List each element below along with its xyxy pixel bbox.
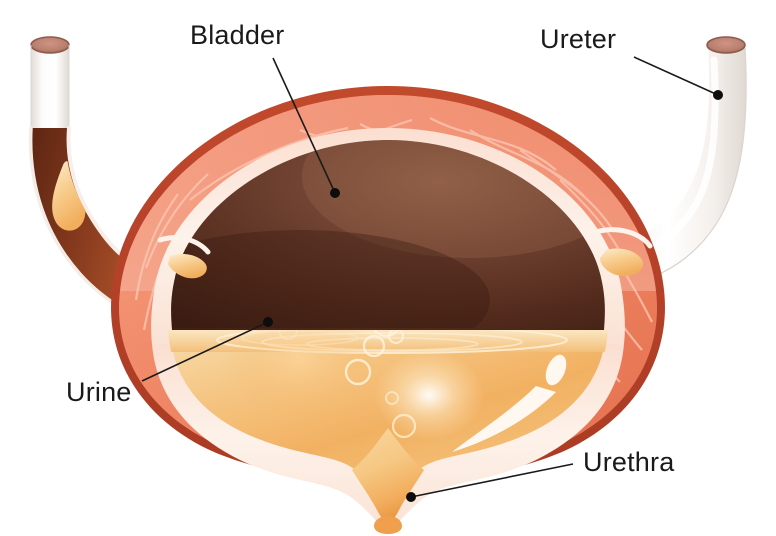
bladder-anatomy-figure: Bladder Ureter Urine Urethra (0, 0, 776, 536)
left-ureter-sheath (31, 45, 69, 137)
label-urine: Urine (66, 379, 132, 406)
label-urethra: Urethra (583, 449, 674, 476)
label-ureter: Ureter (540, 26, 616, 53)
leader-dot-urine (263, 317, 273, 327)
urethra-tip (374, 516, 402, 534)
leader-dot-ureter (713, 90, 723, 100)
label-bladder: Bladder (190, 22, 284, 49)
leader-dot-urethra (406, 492, 416, 502)
leader-dot-bladder (330, 188, 340, 198)
bladder-body (110, 86, 665, 534)
leader-line-ureter (634, 57, 718, 95)
